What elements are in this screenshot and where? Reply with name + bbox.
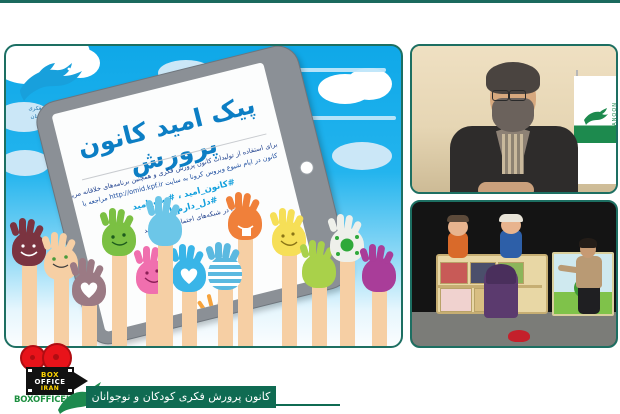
tablet-home-button[interactable]	[298, 159, 315, 176]
hand-lightblue	[148, 212, 182, 246]
sky-streak	[306, 116, 396, 120]
finger	[79, 258, 86, 276]
finger	[383, 250, 395, 265]
hand-orange	[228, 206, 262, 240]
footer-rule	[276, 404, 340, 406]
actor-vest	[576, 256, 602, 288]
finger	[235, 192, 242, 210]
hand-striped	[208, 256, 242, 290]
puppet-right-body	[500, 230, 522, 258]
eyeglasses-icon	[492, 90, 509, 101]
puppet-theater-photo	[410, 200, 618, 348]
kanoon-flag	[574, 76, 616, 184]
red-prop	[508, 330, 530, 342]
raised-hands-illustration	[6, 216, 401, 346]
smiley-face-icon	[102, 222, 136, 256]
portrait-hands	[478, 182, 534, 194]
smiley-face-icon	[228, 206, 262, 240]
set-panel	[440, 262, 468, 284]
cloud-shape	[346, 68, 392, 100]
finger	[279, 208, 286, 226]
hand-dot-green	[330, 228, 364, 262]
green-dot-icon	[330, 228, 364, 262]
heart-icon	[72, 272, 106, 306]
finger	[179, 244, 186, 262]
actor-hair	[579, 238, 597, 248]
hand-dark-red	[12, 232, 46, 266]
portrait-beard	[492, 98, 534, 132]
portrait-photo: KANOON	[410, 44, 618, 194]
portrait-shirt	[502, 134, 524, 174]
hand-magenta	[362, 258, 396, 292]
kanoon-footer-banner-text: کانون پرورش فکری کودکان و نوجوانان	[86, 386, 276, 408]
flag-bird-icon	[582, 108, 608, 126]
finger	[109, 208, 116, 226]
finger	[51, 232, 58, 250]
finger	[337, 214, 344, 232]
cloud-shape	[332, 142, 392, 170]
puppet-right-scarf	[499, 214, 523, 222]
finger	[309, 240, 316, 258]
smiley-face-icon	[12, 232, 46, 266]
finger	[215, 242, 222, 260]
hand-blue	[172, 258, 206, 292]
puppeteer-hood	[486, 264, 516, 284]
poster-panel: کانون پرورش فکری کودکان و نوجوانان پیک ا…	[4, 44, 403, 348]
arm	[238, 222, 253, 346]
set-panel	[440, 288, 472, 312]
bird-eye	[68, 68, 71, 71]
kanoon-footer-banner: کانون پرورش فکری کودکان و نوجوانان	[86, 386, 276, 408]
hand-green	[102, 222, 136, 256]
flag-text: KANOON	[612, 102, 618, 130]
heart-icon	[172, 258, 206, 292]
finger	[143, 246, 150, 264]
eyeglasses-icon	[509, 90, 526, 101]
top-divider	[0, 0, 620, 3]
puppet-left-hat	[447, 215, 469, 222]
finger	[19, 218, 26, 236]
finger	[369, 244, 376, 262]
hand-mauve	[72, 272, 106, 306]
